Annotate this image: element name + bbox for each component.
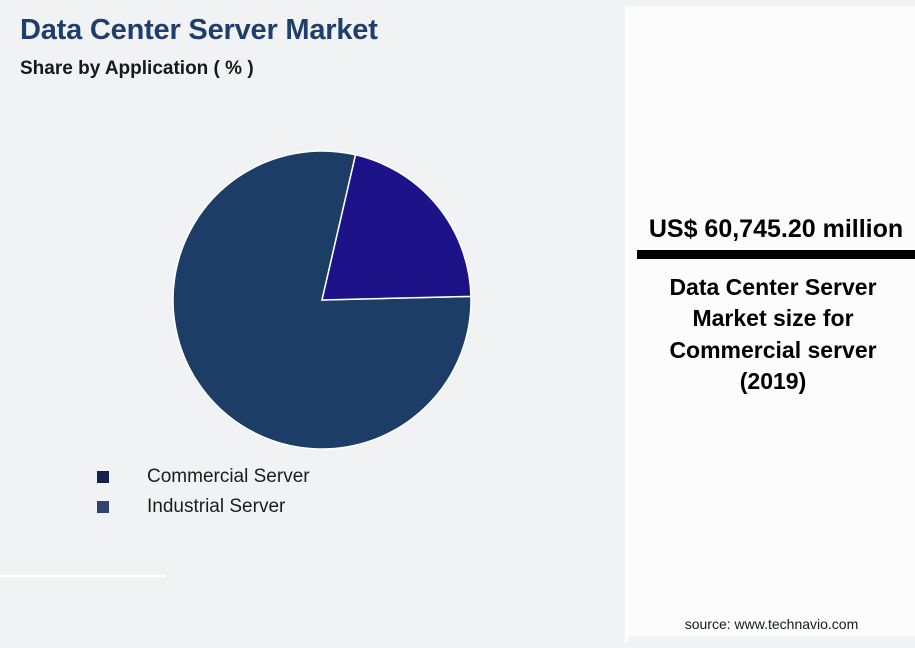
legend-swatch-icon (97, 471, 109, 483)
legend-item-industrial-server[interactable]: Industrial Server (97, 492, 517, 522)
kpi-panel: US$ 60,745.20 million Data Center Server… (628, 6, 915, 636)
pie-chart-svg (172, 150, 472, 450)
kpi-value: US$ 60,745.20 million (637, 215, 915, 244)
chart-legend: Commercial Server Industrial Server (97, 462, 517, 522)
legend-label: Commercial Server (147, 466, 310, 488)
legend-item-commercial-server[interactable]: Commercial Server (97, 462, 517, 492)
kpi-underline (637, 250, 915, 259)
legend-swatch-icon (97, 501, 109, 513)
left-chart-panel: Data Center Server Market Share by Appli… (0, 0, 625, 648)
kpi-caption: Data Center Server Market size for Comme… (642, 272, 904, 397)
legend-label: Industrial Server (147, 496, 285, 518)
chart-subtitle: Share by Application ( % ) (20, 58, 254, 80)
footer-divider (0, 575, 165, 577)
page-title: Data Center Server Market (20, 14, 378, 47)
pie-chart (172, 150, 472, 450)
source-note: source: www.technavio.com (628, 616, 915, 632)
chart-canvas: Data Center Server Market Share by Appli… (0, 0, 915, 648)
